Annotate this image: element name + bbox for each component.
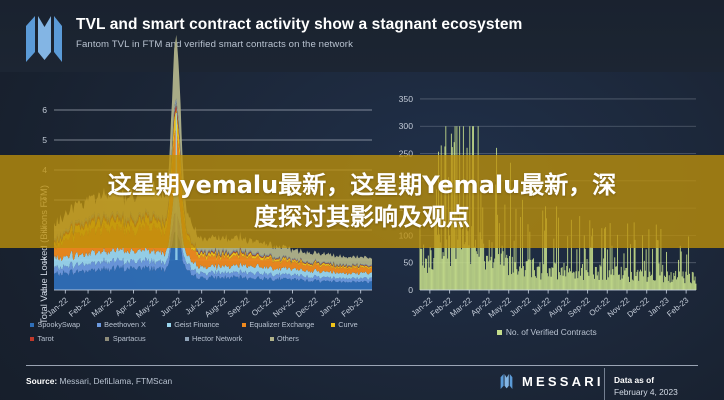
bar [425, 258, 426, 290]
bar [561, 268, 562, 290]
legend-label: No. of Verified Contracts [506, 327, 597, 337]
bar [420, 249, 421, 290]
bar [638, 281, 639, 290]
infographic-page: TVL and smart contract activity show a s… [0, 0, 724, 400]
bar [528, 259, 529, 290]
bar [599, 280, 600, 290]
x-axis-tick: May-22 [487, 295, 514, 319]
source-note: Source: Messari, DefiLlama, FTMScan [26, 376, 172, 386]
bar [597, 275, 598, 290]
bar [508, 275, 509, 290]
bar [661, 272, 662, 290]
bar [689, 274, 690, 290]
bar [665, 277, 666, 290]
bar [530, 260, 531, 290]
legend-row: TarotSpartacusHector NetworkOthers [30, 334, 370, 343]
bar [538, 266, 539, 290]
x-axis-tick: Jan-22 [45, 295, 70, 318]
legend-row: SpookySwapBeethoven XGeist FinanceEquali… [30, 320, 370, 329]
bar [578, 271, 579, 290]
bar [588, 276, 589, 290]
bar [608, 277, 609, 290]
bar [645, 271, 646, 290]
y-axis-tick: 0 [408, 285, 413, 295]
legend-item[interactable]: No. of Verified Contracts [497, 327, 596, 337]
x-axis-tick: Feb-22 [67, 295, 93, 319]
bar [512, 257, 513, 290]
source-label: Source: [26, 376, 57, 386]
bar [456, 259, 457, 290]
bar [493, 262, 494, 290]
bar [582, 264, 583, 290]
bar [540, 280, 541, 290]
bar [564, 270, 565, 290]
bar [636, 272, 637, 290]
bar [681, 251, 682, 290]
bar [536, 278, 537, 290]
messari-logo-icon [26, 16, 62, 62]
bar [606, 280, 607, 290]
bar [487, 256, 488, 290]
bar [548, 276, 549, 290]
bar [676, 279, 677, 290]
bar [504, 266, 505, 290]
x-axis-tick: Aug-22 [203, 295, 229, 319]
bar [648, 277, 649, 290]
bar [652, 249, 653, 290]
bar [650, 276, 651, 290]
x-axis-tick: Sep-22 [566, 295, 592, 319]
bar [580, 276, 581, 290]
bar [549, 268, 550, 290]
bar [611, 275, 612, 290]
bar [696, 284, 697, 290]
bar [505, 258, 506, 290]
bar [684, 283, 685, 290]
legend-item[interactable]: SpookySwap [30, 320, 97, 329]
bar [421, 249, 422, 290]
bar [615, 267, 616, 290]
bar [494, 259, 495, 290]
bar [670, 283, 671, 290]
bar [423, 245, 424, 290]
x-axis-tick: Feb-23 [340, 295, 366, 319]
bar [525, 270, 526, 290]
overlay-banner-text: 这星期yemalu最新，这星期Yemalu最新，深 度探讨其影响及观点 [32, 170, 692, 233]
bar [432, 270, 433, 290]
bar [573, 272, 574, 290]
bar [557, 279, 558, 290]
legend-label: Others [277, 334, 299, 343]
bar [620, 280, 621, 290]
bar [583, 280, 584, 290]
legend-label: Tarot [38, 334, 54, 343]
legend-item[interactable]: Beethoven X [97, 320, 167, 329]
bar [628, 277, 629, 290]
bar [515, 262, 516, 290]
bar [575, 279, 576, 290]
legend-swatch-icon [30, 337, 34, 341]
bar [491, 257, 492, 290]
legend-item[interactable]: Others [270, 334, 370, 343]
bar [513, 273, 514, 290]
x-axis-tick: Sep-22 [226, 295, 252, 319]
bar [647, 282, 648, 290]
bar [524, 276, 525, 290]
legend-label: Geist Finance [174, 320, 219, 329]
bar [533, 258, 534, 290]
y-axis-tick: 6 [42, 105, 47, 115]
y-axis-tick: 50 [403, 258, 413, 268]
page-title: TVL and smart contract activity show a s… [76, 16, 522, 33]
y-axis-tick: 1 [42, 255, 47, 265]
bar [465, 242, 466, 290]
bar [540, 262, 541, 290]
bar [660, 275, 661, 290]
legend-swatch-icon [30, 323, 34, 327]
bar [543, 264, 544, 290]
bar [577, 278, 578, 290]
bar [541, 273, 542, 290]
legend-item[interactable]: Tarot [30, 334, 105, 343]
bar [555, 263, 556, 290]
bar [433, 258, 434, 290]
bar [547, 273, 548, 290]
legend-swatch-icon [185, 337, 189, 341]
bar [570, 271, 571, 290]
bar [654, 280, 655, 290]
bar [622, 279, 623, 290]
bar [586, 270, 587, 290]
chart-footer: Source: Messari, DefiLlama, FTMScan MESS… [0, 366, 724, 400]
bar [662, 265, 663, 290]
bar [585, 249, 586, 290]
bar [534, 270, 535, 290]
bar [464, 244, 465, 290]
chart-header: TVL and smart contract activity show a s… [0, 0, 724, 72]
bar [576, 271, 577, 290]
data-as-of-label: Data as of [614, 374, 678, 386]
bar [596, 267, 597, 290]
bar [518, 271, 519, 290]
bar [595, 267, 596, 290]
x-axis-tick: Feb-23 [665, 295, 691, 319]
bar [614, 257, 615, 290]
bar [568, 272, 569, 290]
bar [626, 268, 627, 290]
bar [521, 268, 522, 290]
bar [461, 249, 462, 290]
bar [428, 256, 429, 290]
x-axis-tick: Mar-22 [448, 295, 474, 319]
footer-vertical-divider [604, 368, 605, 400]
bar [506, 255, 507, 290]
bar [569, 268, 570, 290]
legend-label: Curve [338, 320, 357, 329]
bar [485, 269, 486, 290]
bar [588, 272, 589, 290]
legend-item[interactable]: Geist Finance [167, 320, 242, 329]
bar [590, 247, 591, 290]
bar [675, 271, 676, 290]
bar [559, 272, 560, 290]
bar [511, 274, 512, 290]
bar [666, 252, 667, 290]
bar [576, 249, 577, 290]
messari-logo-icon [498, 374, 515, 389]
bar [653, 280, 654, 290]
y-axis-tick: 300 [399, 121, 414, 131]
x-axis-tick: Oct-22 [250, 295, 275, 318]
overlay-line-1: 这星期yemalu最新，这星期Yemalu最新，深 [32, 170, 692, 202]
bar [693, 272, 694, 290]
bar [535, 276, 536, 290]
bar [552, 267, 553, 290]
bar [551, 277, 552, 290]
legend-label: Equalizer Exchange [249, 320, 314, 329]
bar [537, 267, 538, 290]
bar [431, 250, 432, 290]
bar [687, 275, 688, 290]
x-axis-tick: May-22 [134, 295, 161, 319]
bar [474, 247, 475, 290]
x-axis-tick: Jan-23 [318, 295, 343, 318]
overlay-line-2: 度探讨其影响及观点 [32, 202, 692, 234]
bar [526, 261, 527, 290]
bar [429, 268, 430, 290]
y-axis-tick: 0 [42, 285, 47, 295]
bar [603, 258, 604, 290]
bar [663, 282, 664, 290]
bar [500, 265, 501, 290]
bar [440, 242, 441, 290]
bar [613, 275, 614, 290]
bar [646, 249, 647, 290]
bar [560, 275, 561, 290]
bar [600, 265, 601, 290]
messari-brand: MESSARI [498, 374, 604, 389]
bar [444, 256, 445, 290]
y-axis-tick: 350 [399, 94, 414, 104]
x-axis-tick: Dec-22 [294, 295, 320, 319]
bar [600, 266, 601, 290]
bar [574, 272, 575, 290]
bar [612, 246, 613, 290]
bar [685, 272, 686, 290]
bar [649, 272, 650, 290]
bar [562, 267, 563, 290]
bar [563, 276, 564, 290]
legend-label: Hector Network [192, 334, 242, 343]
bar [633, 280, 634, 290]
bar [672, 282, 673, 290]
bar [587, 259, 588, 290]
bar [514, 241, 515, 290]
bar [683, 271, 684, 290]
bar [566, 266, 567, 290]
bar [450, 266, 451, 290]
source-value: Messari, DefiLlama, FTMScan [60, 376, 173, 386]
bar [632, 280, 633, 290]
bar [641, 271, 642, 290]
bar [672, 280, 673, 290]
bar [483, 244, 484, 290]
bar [637, 270, 638, 290]
bar [691, 283, 692, 290]
bar [640, 270, 641, 290]
bar [639, 272, 640, 290]
x-axis-tick: Mar-22 [90, 295, 116, 319]
bar [625, 268, 626, 290]
bar [673, 273, 674, 290]
bar [659, 263, 660, 290]
bar [527, 261, 528, 290]
bar [692, 272, 693, 290]
x-axis-tick: Nov-22 [271, 295, 297, 319]
messari-wordmark: MESSARI [522, 374, 604, 389]
legend-swatch-icon [497, 330, 502, 335]
bar [502, 246, 503, 290]
y-axis-tick: 5 [42, 135, 47, 145]
bar [612, 269, 613, 290]
bar [517, 275, 518, 290]
legend-item[interactable]: Curve [331, 320, 370, 329]
bar [621, 267, 622, 290]
bar [479, 257, 480, 290]
bar [488, 261, 489, 290]
bar [519, 266, 520, 290]
bar [607, 249, 608, 290]
bar [678, 260, 679, 290]
bar [424, 268, 425, 290]
bar [422, 265, 423, 290]
bar [594, 279, 595, 290]
bar [664, 276, 665, 290]
bar [430, 247, 431, 290]
bar [509, 256, 510, 290]
bar [552, 268, 553, 290]
bar [492, 268, 493, 290]
bar [655, 280, 656, 290]
x-axis-tick: Jun-22 [508, 295, 533, 318]
bar [598, 272, 599, 290]
bar [554, 263, 555, 290]
bar [476, 251, 477, 290]
bar [550, 268, 551, 290]
bar [629, 282, 630, 290]
bar [516, 269, 517, 290]
bar [671, 272, 672, 290]
bar [636, 276, 637, 290]
bar [593, 275, 594, 290]
x-axis-tick: Jun-22 [159, 295, 184, 318]
contracts-legend: No. of Verified Contracts [378, 327, 716, 337]
bar [677, 277, 678, 290]
legend-item[interactable]: Hector Network [185, 334, 270, 343]
data-as-of-block: Data as of February 4, 2023 [614, 374, 678, 398]
legend-swatch-icon [105, 337, 109, 341]
bar [523, 266, 524, 290]
bar [432, 269, 433, 290]
legend-item[interactable]: Equalizer Exchange [242, 320, 331, 329]
legend-label: SpookySwap [38, 320, 81, 329]
legend-swatch-icon [97, 323, 101, 327]
bar [503, 251, 504, 290]
bar [443, 252, 444, 290]
bar [682, 276, 683, 290]
bar [468, 245, 469, 290]
bar [618, 275, 619, 290]
bar [668, 281, 669, 290]
bar [602, 280, 603, 290]
bar [619, 275, 620, 290]
overlay-banner: 这星期yemalu最新，这星期Yemalu最新，深 度探讨其影响及观点 [0, 155, 724, 248]
x-axis-tick: Dec-22 [625, 295, 651, 319]
legend-label: Spartacus [113, 334, 146, 343]
bar [501, 254, 502, 290]
bar [486, 256, 487, 290]
bar [643, 276, 644, 290]
bar [624, 270, 625, 290]
bar [492, 242, 493, 290]
header-text-block: TVL and smart contract activity show a s… [76, 14, 522, 50]
bar [624, 253, 625, 290]
legend-item[interactable]: Spartacus [105, 334, 184, 343]
bar [690, 282, 691, 290]
bar [564, 263, 565, 290]
bar [531, 277, 532, 290]
bar [674, 276, 675, 290]
legend-swatch-icon [242, 323, 246, 327]
bar [507, 258, 508, 290]
legend-swatch-icon [331, 323, 335, 327]
bar [447, 259, 448, 290]
bar [651, 275, 652, 290]
bar [616, 266, 617, 290]
legend-swatch-icon [270, 337, 274, 341]
bar [498, 254, 499, 290]
legend-swatch-icon [167, 323, 171, 327]
bar [644, 261, 645, 290]
bar [631, 272, 632, 290]
bar [686, 255, 687, 290]
page-subtitle: Fantom TVL in FTM and verified smart con… [76, 39, 522, 50]
bar [532, 259, 533, 290]
bar [669, 275, 670, 290]
data-as-of-value: February 4, 2023 [614, 386, 678, 398]
bar [442, 259, 443, 290]
bar [679, 272, 680, 290]
bar [695, 277, 696, 290]
bar [623, 275, 624, 290]
bar [684, 278, 685, 290]
bar [539, 267, 540, 290]
bar [680, 246, 681, 290]
bar [484, 261, 485, 290]
bar [581, 268, 582, 290]
bar [426, 259, 427, 290]
tvl-legend: SpookySwapBeethoven XGeist FinanceEquali… [30, 320, 370, 348]
bar [667, 271, 668, 290]
bar [490, 260, 491, 290]
bar [470, 264, 471, 290]
bar [427, 273, 428, 290]
bar [572, 273, 573, 290]
bar [609, 270, 610, 290]
bar [630, 244, 631, 290]
bar [477, 254, 478, 290]
bar [565, 276, 566, 290]
